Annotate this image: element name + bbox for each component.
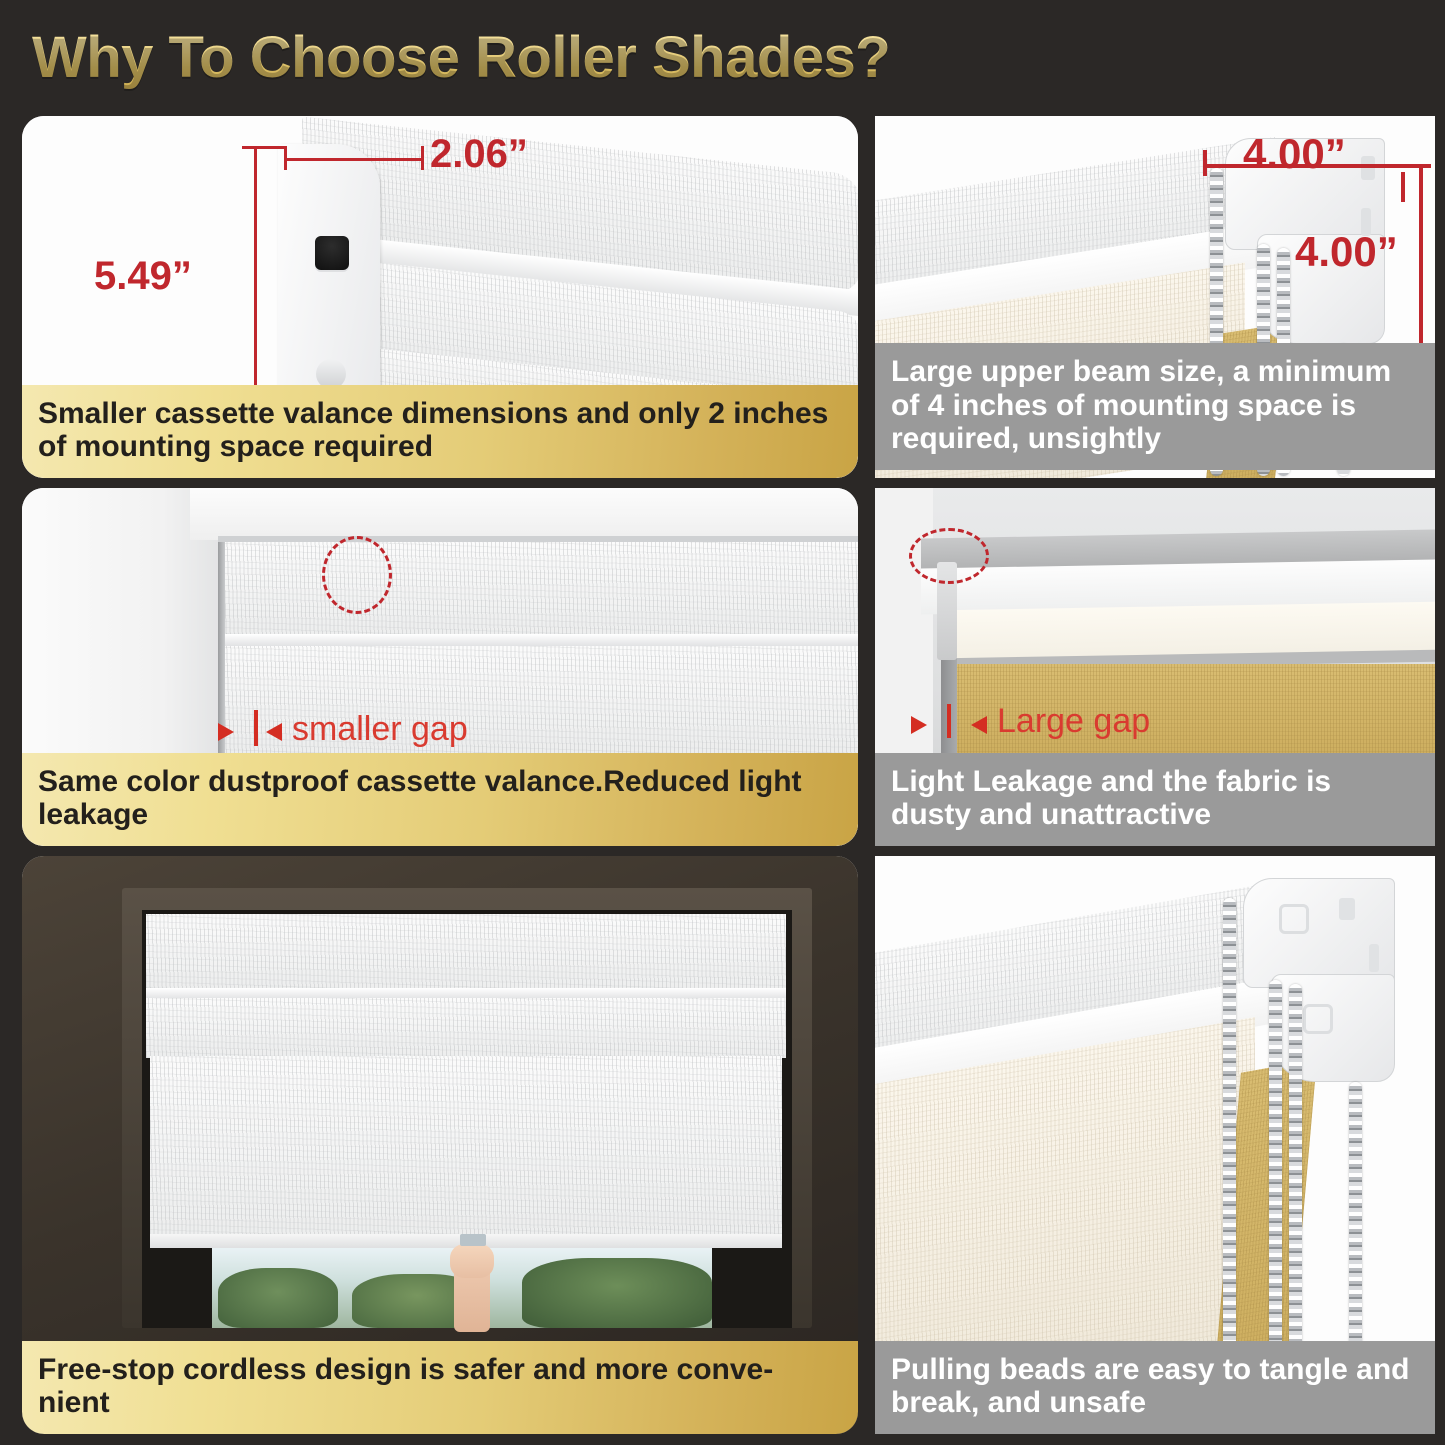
gap-marker xyxy=(254,710,258,746)
panel-pro-cordless-design: Free-stop cordless design is safer and m… xyxy=(22,856,858,1434)
bead-chain-2 xyxy=(1269,980,1282,1368)
height-dim-line xyxy=(1419,164,1423,356)
width-dim-tick-right xyxy=(421,146,424,170)
gap-arrow-right-icon xyxy=(971,716,987,734)
pull-tab xyxy=(460,1234,486,1246)
width-dim-tick-left xyxy=(284,146,287,170)
headrail-lower xyxy=(146,998,786,1058)
gap-marker xyxy=(947,704,951,738)
page-title-text: Why To Choose Roller Shades? xyxy=(32,18,1032,98)
page-title: Why To Choose Roller Shades? xyxy=(32,18,1032,98)
height-dimension-label: 4.00” xyxy=(1295,228,1398,276)
hand-fingers xyxy=(450,1244,494,1278)
caption-con-large-upper-beam: Large upper beam size, a minimum of 4 in… xyxy=(875,343,1435,470)
cassette-headrail xyxy=(146,914,786,994)
caption-pro-cordless-design: Free-stop cordless design is safer and m… xyxy=(22,1341,858,1434)
width-dim-tick-right xyxy=(1401,172,1405,202)
bracket-logo-icon-2 xyxy=(1303,1004,1333,1034)
panel-con-pulling-beads: Pulling beads are easy to tangle and bre… xyxy=(875,856,1435,1434)
bead-chain-4 xyxy=(1349,1082,1362,1368)
gap-arrow-right-icon xyxy=(266,723,282,741)
width-dimension-label: 2.06” xyxy=(430,132,528,177)
panel-con-large-upper-beam: 4.00” 4.00” Large upper beam size, a min… xyxy=(875,116,1435,478)
bracket-slot-icon xyxy=(315,236,349,270)
width-dim-line xyxy=(284,158,424,161)
tree-right xyxy=(522,1258,712,1328)
gap-callout-label: smaller gap xyxy=(292,710,468,749)
height-dim-tick-top xyxy=(242,146,286,149)
comparison-grid: 2.06” 5.49” Smaller cassette valance dim… xyxy=(0,106,1445,1445)
bracket-logo-icon xyxy=(1279,904,1309,934)
shade-fabric xyxy=(150,1056,782,1242)
gap-callout-label: Large gap xyxy=(997,702,1150,741)
panel-pro-dustproof-valance: smaller gap Same color dustproof cassett… xyxy=(22,488,858,846)
highlight-circle-icon xyxy=(322,536,392,614)
width-dimension-label: 4.00” xyxy=(1243,130,1346,178)
bracket-notch-icon xyxy=(1361,156,1375,180)
caption-pro-dustproof-valance: Same color dustproof cassette valance.Re… xyxy=(22,753,858,846)
gap-arrow-left-icon xyxy=(218,723,234,741)
bracket-notch-icon xyxy=(1339,898,1355,920)
bead-chain-3 xyxy=(1289,984,1302,1368)
width-dim-tick-left xyxy=(1203,150,1207,176)
tree-left xyxy=(218,1268,338,1328)
caption-con-light-leakage: Light Leakage and the fabric is dusty an… xyxy=(875,753,1435,846)
bead-chain-1 xyxy=(1223,898,1236,1368)
height-dim-line xyxy=(254,146,257,406)
highlight-circle-icon xyxy=(909,528,989,584)
panel-pro-cassette-dimensions: 2.06” 5.49” Smaller cassette valance dim… xyxy=(22,116,858,478)
caption-pro-cassette-dimensions: Smaller cassette valance dimensions and … xyxy=(22,385,858,478)
bracket-slot-icon xyxy=(1369,944,1379,972)
height-dim-tick-top xyxy=(1397,164,1431,168)
window-frame-top xyxy=(190,488,858,540)
panel-con-light-leakage: Large gap Light Leakage and the fabric i… xyxy=(875,488,1435,846)
caption-con-pulling-beads: Pulling beads are easy to tangle and bre… xyxy=(875,1341,1435,1434)
height-dimension-label: 5.49” xyxy=(94,254,192,299)
cassette-valance xyxy=(222,542,858,640)
gap-arrow-left-icon xyxy=(911,716,927,734)
